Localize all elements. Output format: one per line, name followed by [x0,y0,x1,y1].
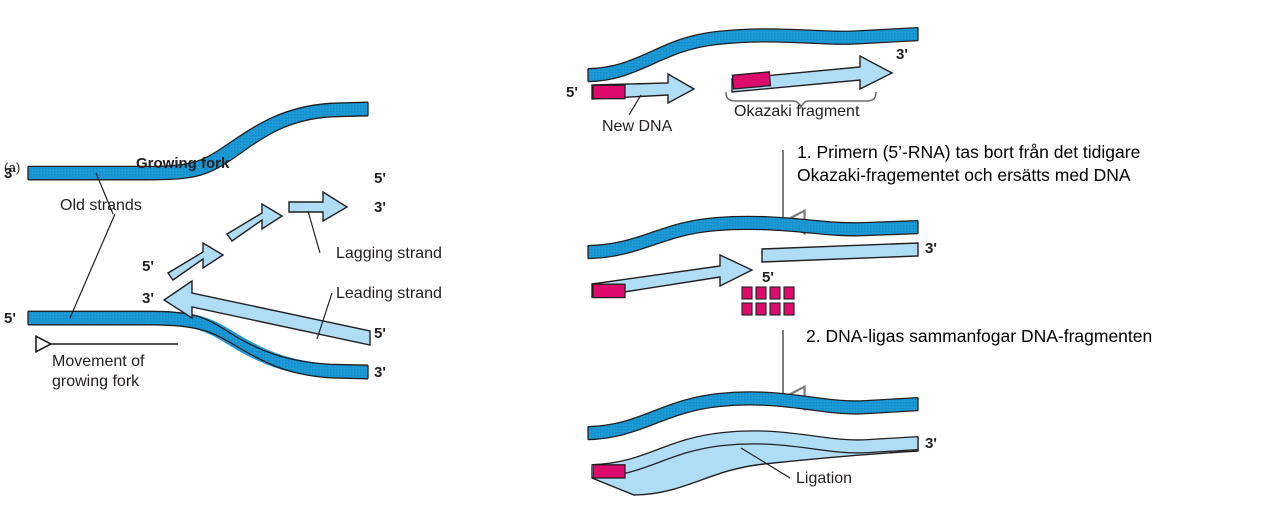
figure-canvas: (a) Growing fork Old strands Lagging str… [0,0,1270,522]
annotation-1-line-1: 1. Primern (5’-RNA) tas bort från det ti… [797,141,1140,164]
leader-old-strands-bottom [70,214,115,318]
step2-extended-new-strand [592,255,752,298]
label-ligation: Ligation [796,470,852,488]
step2-downstream-fragment [762,243,918,262]
label-step1-3prime: 3' [896,46,908,63]
leader-lagging-strand [308,211,320,253]
label-5prime-new-top: 5' [142,258,154,275]
annotation-1-line-2: Okazaki-fragementet och ersätts med DNA [797,164,1131,187]
label-3prime-new-bottom: 3' [142,290,154,307]
label-step1-5prime: 5' [566,84,578,101]
annotation-2-line-1: 2. DNA-ligas sammanfogar DNA-fragmenten [806,325,1152,348]
step1-rna-primer-block [593,85,625,98]
step2-released-nucleotides [742,287,794,315]
label-step3-3prime: 3' [925,435,937,452]
label-step2-3prime: 3' [925,240,937,257]
panel-a-title: Growing fork [136,155,229,172]
label-5prime-old-top-right: 5' [374,170,386,187]
step2-rna-primer-block [593,284,625,297]
diagram-vectors [0,0,1270,522]
lagging-strand-fragment-arrow-2 [227,204,282,241]
label-3prime-old-bottom-right: 3' [374,364,386,381]
lagging-strand-fragment-arrow-3 [289,192,347,221]
label-3prime-lagging-right: 3' [374,199,386,216]
leader-new-dna [629,95,641,115]
label-movement-line-2: growing fork [52,373,139,391]
step3-rna-primer-block [593,465,625,478]
panel-b-step-1-graphics [588,28,918,115]
step3-template-strand [588,398,918,433]
label-old-strands: Old strands [60,197,142,215]
label-3prime-template-top: 3' [4,165,16,182]
panel-b-step-2-graphics [588,216,918,315]
label-okazaki-fragment: Okazaki fragment [734,103,859,121]
label-leading-strand: Leading strand [336,285,442,303]
lagging-strand-fragment-arrow-1 [168,243,223,280]
label-new-dna: New DNA [602,118,672,136]
label-5prime-leading-right: 5' [374,325,386,342]
label-step2-5prime: 5' [762,269,774,286]
label-movement-line-1: Movement of [52,353,144,371]
label-lagging-strand: Lagging strand [336,245,442,263]
step1-okazaki-fragment [732,56,892,92]
step1-okazaki-primer-block [732,72,770,89]
panel-b-step-3-graphics [588,392,918,495]
panel-a-graphics [28,102,370,379]
label-5prime-template-bottom: 5' [4,310,16,327]
